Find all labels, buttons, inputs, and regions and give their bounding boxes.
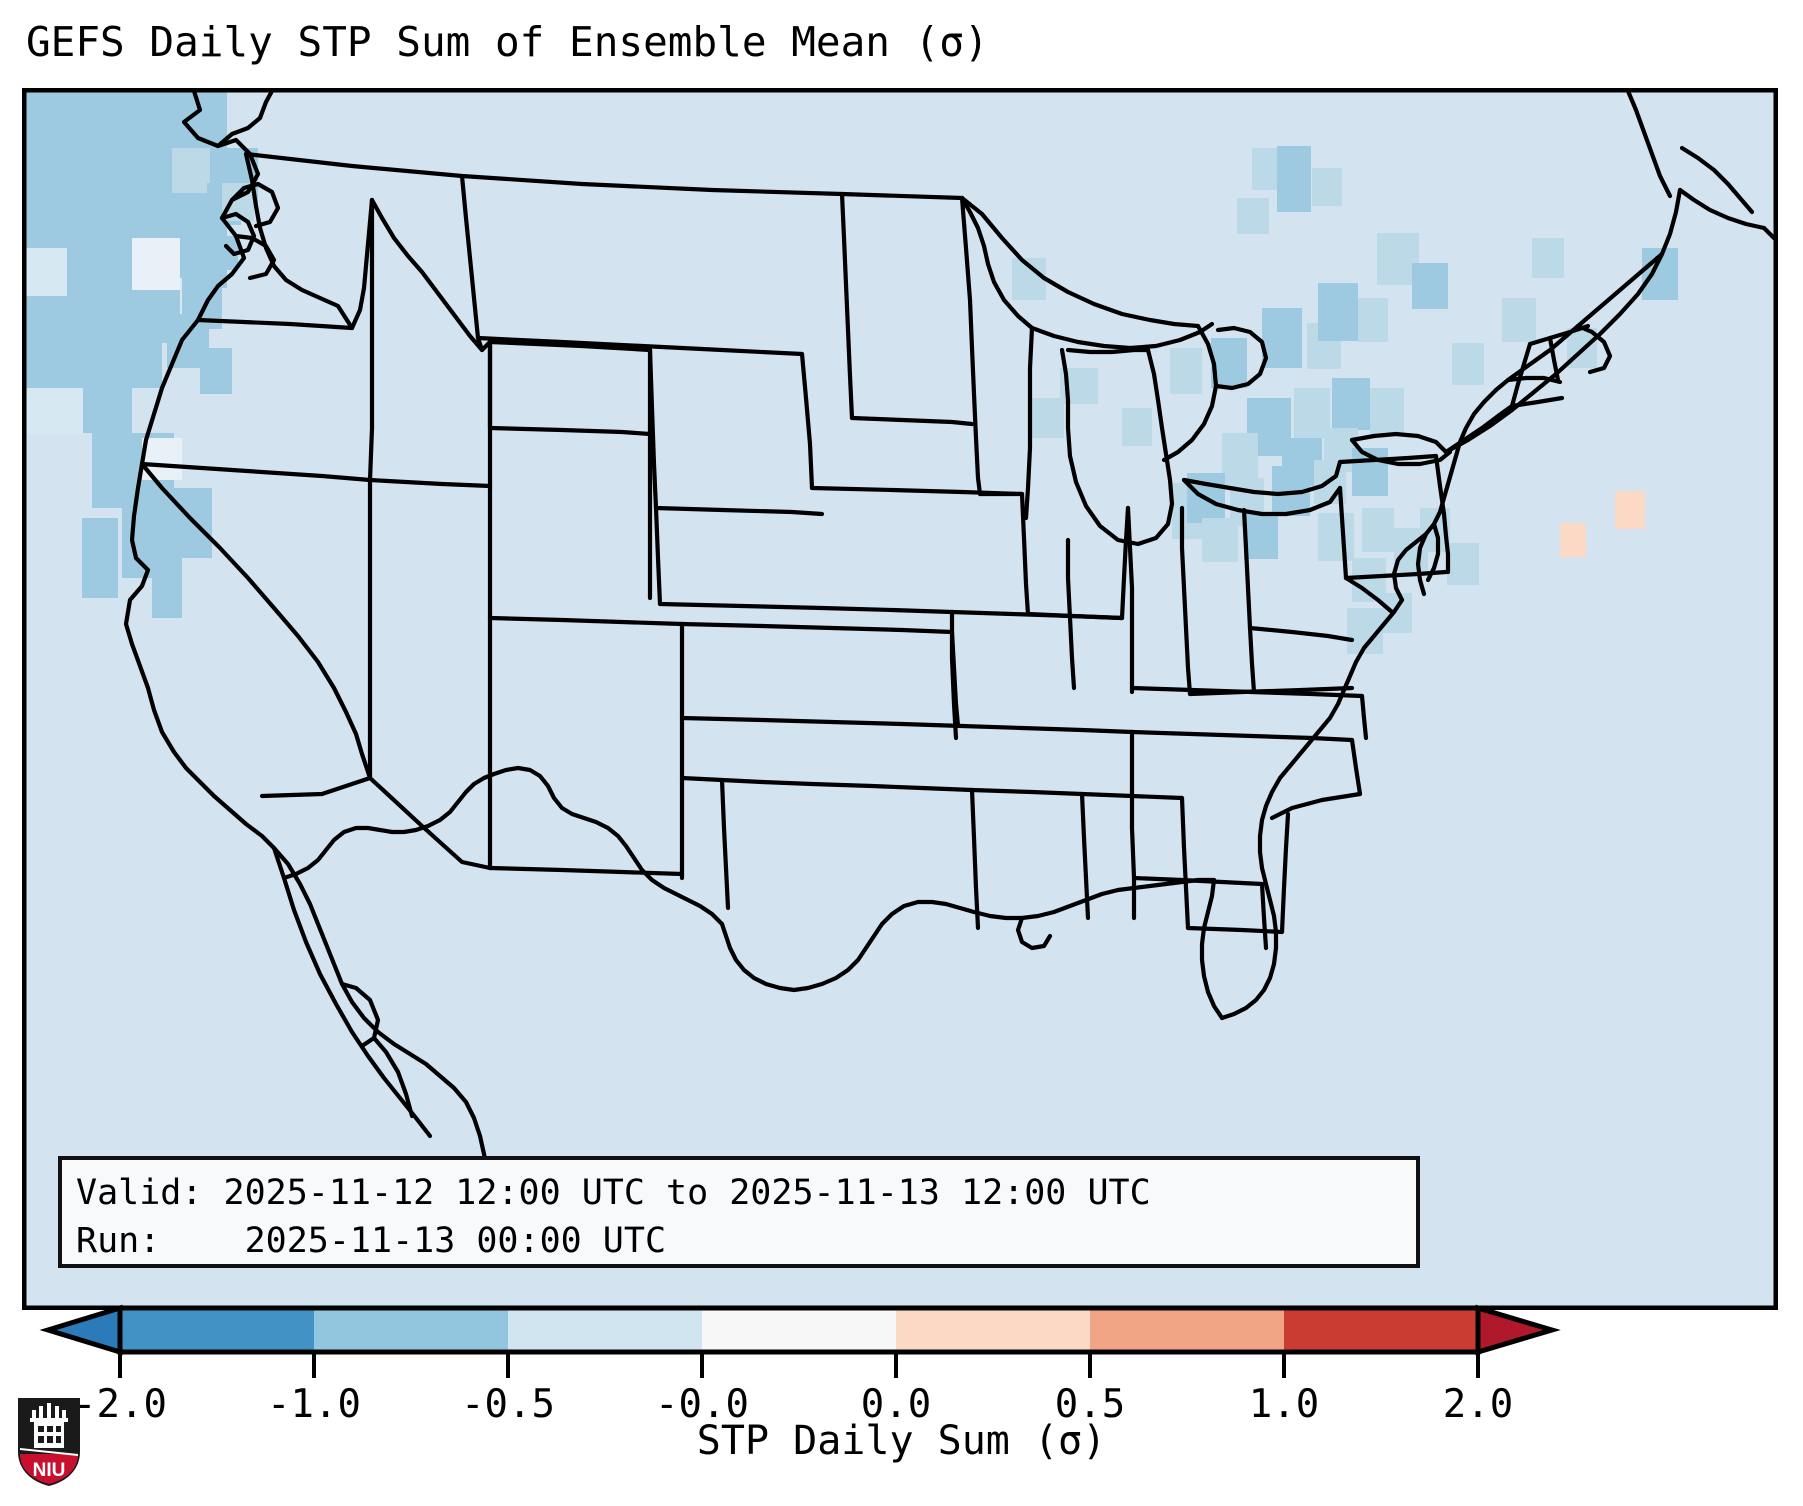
colorbar-seg-1 xyxy=(314,1308,508,1352)
map-panel xyxy=(22,88,1778,1310)
colorbar-seg-5 xyxy=(1090,1308,1284,1352)
colorbar: -2.0 -1.0 -0.5 -0.0 0.0 0.5 1.0 2.0 STP … xyxy=(0,1300,1803,1506)
colorbar-extend-under xyxy=(48,1308,120,1352)
valid-time-line: Valid: 2025-11-12 12:00 UTC to 2025-11-1… xyxy=(76,1169,1402,1217)
colorbar-seg-4 xyxy=(896,1308,1090,1352)
logo-text: NIU xyxy=(33,1460,66,1481)
colorbar-extend-over xyxy=(1478,1308,1552,1352)
colorbar-axis-label: STP Daily Sum (σ) xyxy=(0,1418,1803,1464)
niu-logo: NIU xyxy=(16,1396,82,1488)
colorbar-seg-0 xyxy=(120,1308,314,1352)
colorbar-ticks xyxy=(120,1354,1478,1378)
field-background xyxy=(22,88,1778,1310)
valid-run-info-box: Valid: 2025-11-12 12:00 UTC to 2025-11-1… xyxy=(58,1156,1420,1268)
weather-map xyxy=(22,88,1778,1310)
run-time-line: Run: 2025-11-13 00:00 UTC xyxy=(76,1217,1402,1265)
colorbar-seg-3 xyxy=(702,1308,896,1352)
page-title: GEFS Daily STP Sum of Ensemble Mean (σ) xyxy=(26,18,989,66)
colorbar-seg-2 xyxy=(508,1308,702,1352)
colorbar-seg-6 xyxy=(1284,1308,1478,1352)
